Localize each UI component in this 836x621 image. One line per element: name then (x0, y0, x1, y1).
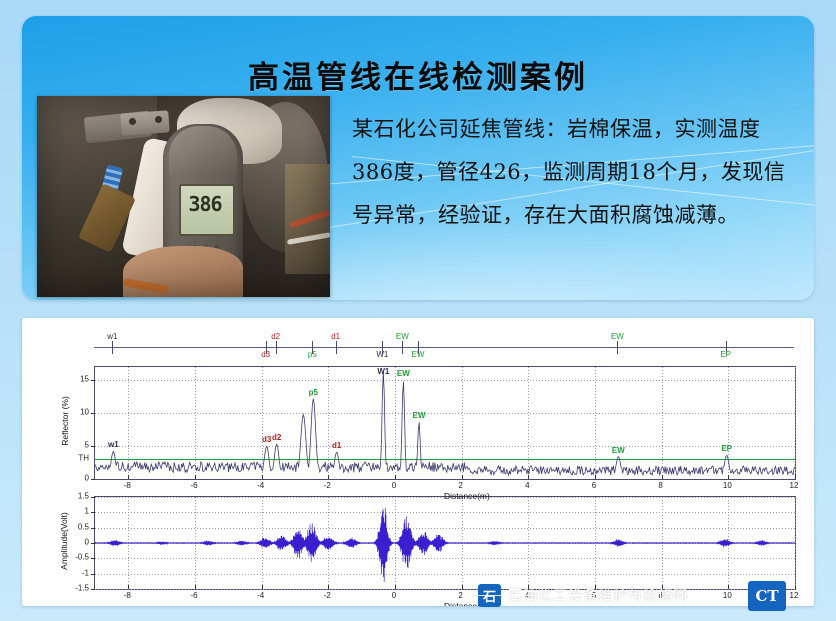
y-tick-label: 0 (85, 538, 94, 547)
ruler-label: d3 (261, 350, 270, 359)
y-tick-label: 10 (80, 408, 94, 417)
peak-label: p5 (309, 388, 318, 397)
y-axis-label: Reflector (%) (60, 386, 70, 456)
x-tick-label: -6 (190, 591, 197, 600)
watermark: 石 石油化工设备维护与检修网 CT (478, 578, 688, 612)
peak-label: d2 (272, 433, 281, 442)
y-tick-label: 1.5 (78, 492, 94, 501)
ruler-label: d1 (331, 332, 340, 341)
y-tick-label: -1 (82, 568, 94, 577)
x-tick-label: 6 (592, 481, 596, 490)
peak-label: W1 (377, 367, 389, 376)
peak-label: w1 (108, 440, 119, 449)
peak-label: EW (413, 411, 426, 420)
ruler-tick (112, 341, 113, 354)
chart-card: w1d3d2p5d1W1EWEWEWEP w1d3d2p5d1W1EWEWEWE… (22, 318, 814, 606)
y-tick-label: 15 (80, 375, 94, 384)
y-tick-label: 0 (85, 474, 94, 483)
amplitude-plot (94, 496, 796, 590)
feature-ruler: w1d3d2p5d1W1EWEWEWEP (94, 332, 794, 362)
peak-label: EW (612, 446, 625, 455)
ruler-tick (336, 341, 337, 354)
ruler-label: EP (720, 350, 731, 359)
gridline (795, 497, 796, 589)
x-tick-label: 2 (458, 591, 462, 600)
ruler-axis (94, 347, 794, 348)
peak-label: d1 (332, 441, 341, 450)
ruler-label: w1 (107, 332, 117, 341)
peak-label: d3 (262, 435, 271, 444)
x-axis-label: Distance(m) (444, 491, 490, 501)
amplitude-trace (95, 497, 795, 589)
y-tick-label: -0.5 (75, 553, 94, 562)
y-tick-label: 0.5 (78, 522, 94, 531)
x-tick-label: 0 (392, 481, 396, 490)
x-tick-label: -8 (124, 481, 131, 490)
reflector-plot: w1d3d2p5d1W1EWEWEWEP (94, 366, 796, 480)
ruler-tick (276, 341, 277, 354)
gridline (795, 367, 796, 479)
ruler-label: EW (412, 350, 425, 359)
y-tick-label: -1.5 (75, 584, 94, 593)
ruler-tick (402, 341, 403, 354)
x-tick-label: 12 (790, 591, 799, 600)
x-tick-label: 2 (458, 481, 462, 490)
x-tick-label: 10 (723, 591, 732, 600)
peak-label: EP (721, 444, 732, 453)
gridline (95, 589, 795, 590)
peak-label: EW (397, 369, 410, 378)
case-description: 某石化公司延焦管线：岩棉保温，实测温度386度，管径426，监测周期18个月，发… (352, 108, 802, 237)
x-tick (795, 585, 796, 589)
ruler-label: p5 (308, 350, 317, 359)
field-photo: 386 (37, 96, 330, 297)
x-tick-label: -4 (257, 591, 264, 600)
ruler-label: d2 (271, 332, 280, 341)
x-tick (795, 475, 796, 479)
y-tick-label: 5 (85, 441, 94, 450)
page-title: 高温管线在线检测案例 (22, 52, 814, 97)
y-tick-label: 1 (85, 507, 94, 516)
ruler-label: EW (611, 332, 624, 341)
ruler-label: EW (396, 332, 409, 341)
hero-card: 高温管线在线检测案例 386 某石化公司延焦管线：岩 (22, 16, 814, 300)
x-tick-label: 0 (392, 591, 396, 600)
x-tick-label: 10 (723, 481, 732, 490)
reflector-trace (95, 367, 795, 479)
watermark-rule (466, 595, 586, 596)
photo-vignette (37, 96, 330, 297)
x-tick-label: 8 (658, 481, 662, 490)
ruler-label: W1 (376, 350, 388, 359)
site-logo-icon: CT (748, 581, 786, 611)
ruler-tick (617, 341, 618, 354)
threshold-label: TH (78, 454, 94, 463)
x-tick-label: -4 (257, 481, 264, 490)
y-axis-label: Amplitude(Volt) (59, 495, 69, 587)
x-tick-label: 4 (525, 481, 529, 490)
x-tick-label: -2 (324, 591, 331, 600)
x-tick-label: -2 (324, 481, 331, 490)
slide-page: 高温管线在线检测案例 386 某石化公司延焦管线：岩 (0, 0, 836, 621)
x-tick-label: -6 (190, 481, 197, 490)
x-tick-label: -8 (124, 591, 131, 600)
x-tick-label: 12 (790, 481, 799, 490)
